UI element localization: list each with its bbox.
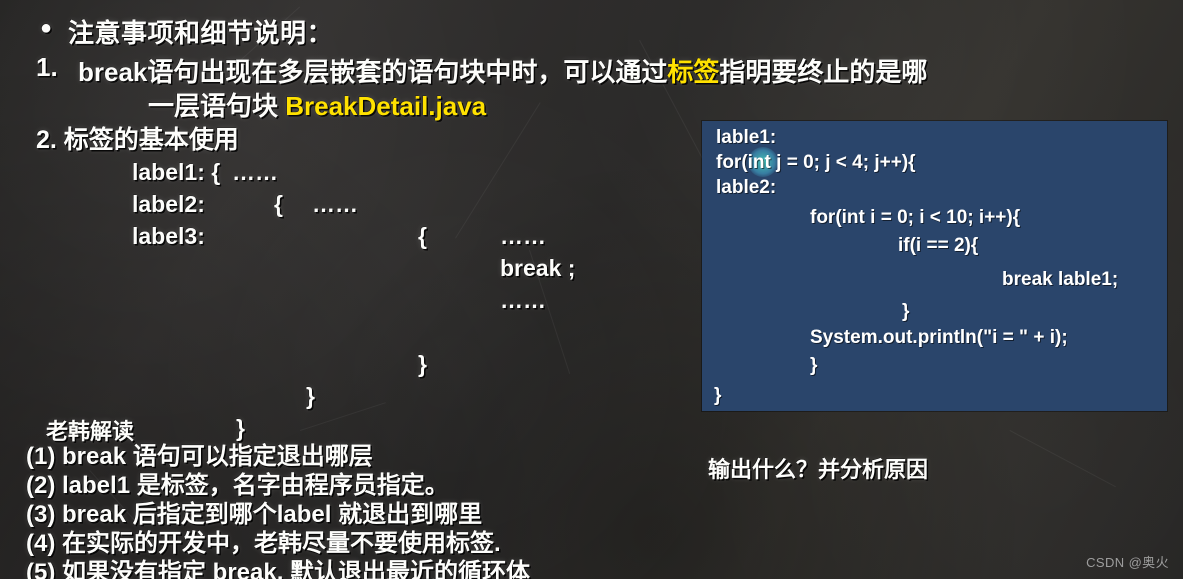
code-line: for(int j = 0; j < 4; j++){ bbox=[716, 152, 916, 174]
question-text: 输出什么？并分析原因 bbox=[708, 452, 928, 484]
code-line: lable1: bbox=[716, 127, 776, 149]
bullet-point-icon: ● bbox=[40, 18, 52, 38]
slide-content: ● 注意事项和细节说明： 1. break语句出现在多层嵌套的语句块中时，可以通… bbox=[0, 0, 1183, 579]
interpretation-line: (1) break 语句可以指定退出哪层 bbox=[26, 442, 530, 471]
item1-highlight-label: 标签 bbox=[667, 57, 719, 87]
interpretation-list: (1) break 语句可以指定退出哪层(2) label1 是标签，名字由程序… bbox=[26, 442, 530, 579]
pseudocode-token: …… bbox=[500, 284, 546, 316]
pseudocode-token: label3: bbox=[132, 220, 205, 252]
pseudocode-token: } bbox=[306, 380, 315, 412]
list-item-2-text: 2. 标签的基本使用 bbox=[36, 120, 239, 156]
code-line: } bbox=[714, 385, 721, 407]
code-line: System.out.println("i = " + i); bbox=[810, 327, 1068, 349]
code-panel: lable1:for(int j = 0; j < 4; j++){lable2… bbox=[702, 121, 1167, 411]
pseudocode-token: …… bbox=[312, 188, 358, 220]
item1-line2-text: 一层语句块 bbox=[148, 91, 285, 121]
interpretation-line: (5) 如果没有指定 break, 默认退出最近的循环体 bbox=[26, 558, 530, 579]
list-item-1-text: break语句出现在多层嵌套的语句块中时，可以通过标签指明要终止的是哪 bbox=[78, 52, 927, 89]
pseudocode-token: break ; bbox=[500, 252, 575, 284]
pseudocode-token: { bbox=[418, 220, 427, 252]
pseudocode-token: label1: { bbox=[132, 156, 220, 188]
list-item-1-number: 1. bbox=[36, 52, 58, 83]
list-item-1-continuation: 一层语句块 BreakDetail.java bbox=[148, 86, 486, 123]
pseudocode-token: …… bbox=[500, 220, 546, 252]
interpretation-line: (2) label1 是标签，名字由程序员指定。 bbox=[26, 471, 530, 500]
item1-text-after: 指明要终止的是哪 bbox=[719, 57, 927, 87]
java-file-name: BreakDetail.java bbox=[285, 91, 486, 121]
code-line: break lable1; bbox=[1002, 269, 1118, 291]
interpretation-line: (3) break 后指定到哪个label 就退出到哪里 bbox=[26, 500, 530, 529]
page-title: 注意事项和细节说明： bbox=[68, 13, 333, 50]
interpretation-line: (4) 在实际的开发中，老韩尽量不要使用标签. bbox=[26, 529, 530, 558]
item1-text-before: break语句出现在多层嵌套的语句块中时，可以通过 bbox=[78, 57, 667, 87]
code-line: } bbox=[810, 355, 817, 377]
pseudocode-token: } bbox=[418, 348, 427, 380]
pseudocode-token: …… bbox=[232, 156, 278, 188]
csdn-watermark: CSDN @奥火 bbox=[1086, 552, 1169, 571]
code-line: for(int i = 0; i < 10; i++){ bbox=[810, 207, 1020, 229]
code-line: lable2: bbox=[716, 177, 776, 199]
code-line: if(i == 2){ bbox=[898, 235, 978, 257]
pseudocode-token: { bbox=[274, 188, 283, 220]
pseudocode-token: } bbox=[236, 412, 245, 444]
code-line: } bbox=[902, 301, 909, 323]
pseudocode-token: label2: bbox=[132, 188, 205, 220]
